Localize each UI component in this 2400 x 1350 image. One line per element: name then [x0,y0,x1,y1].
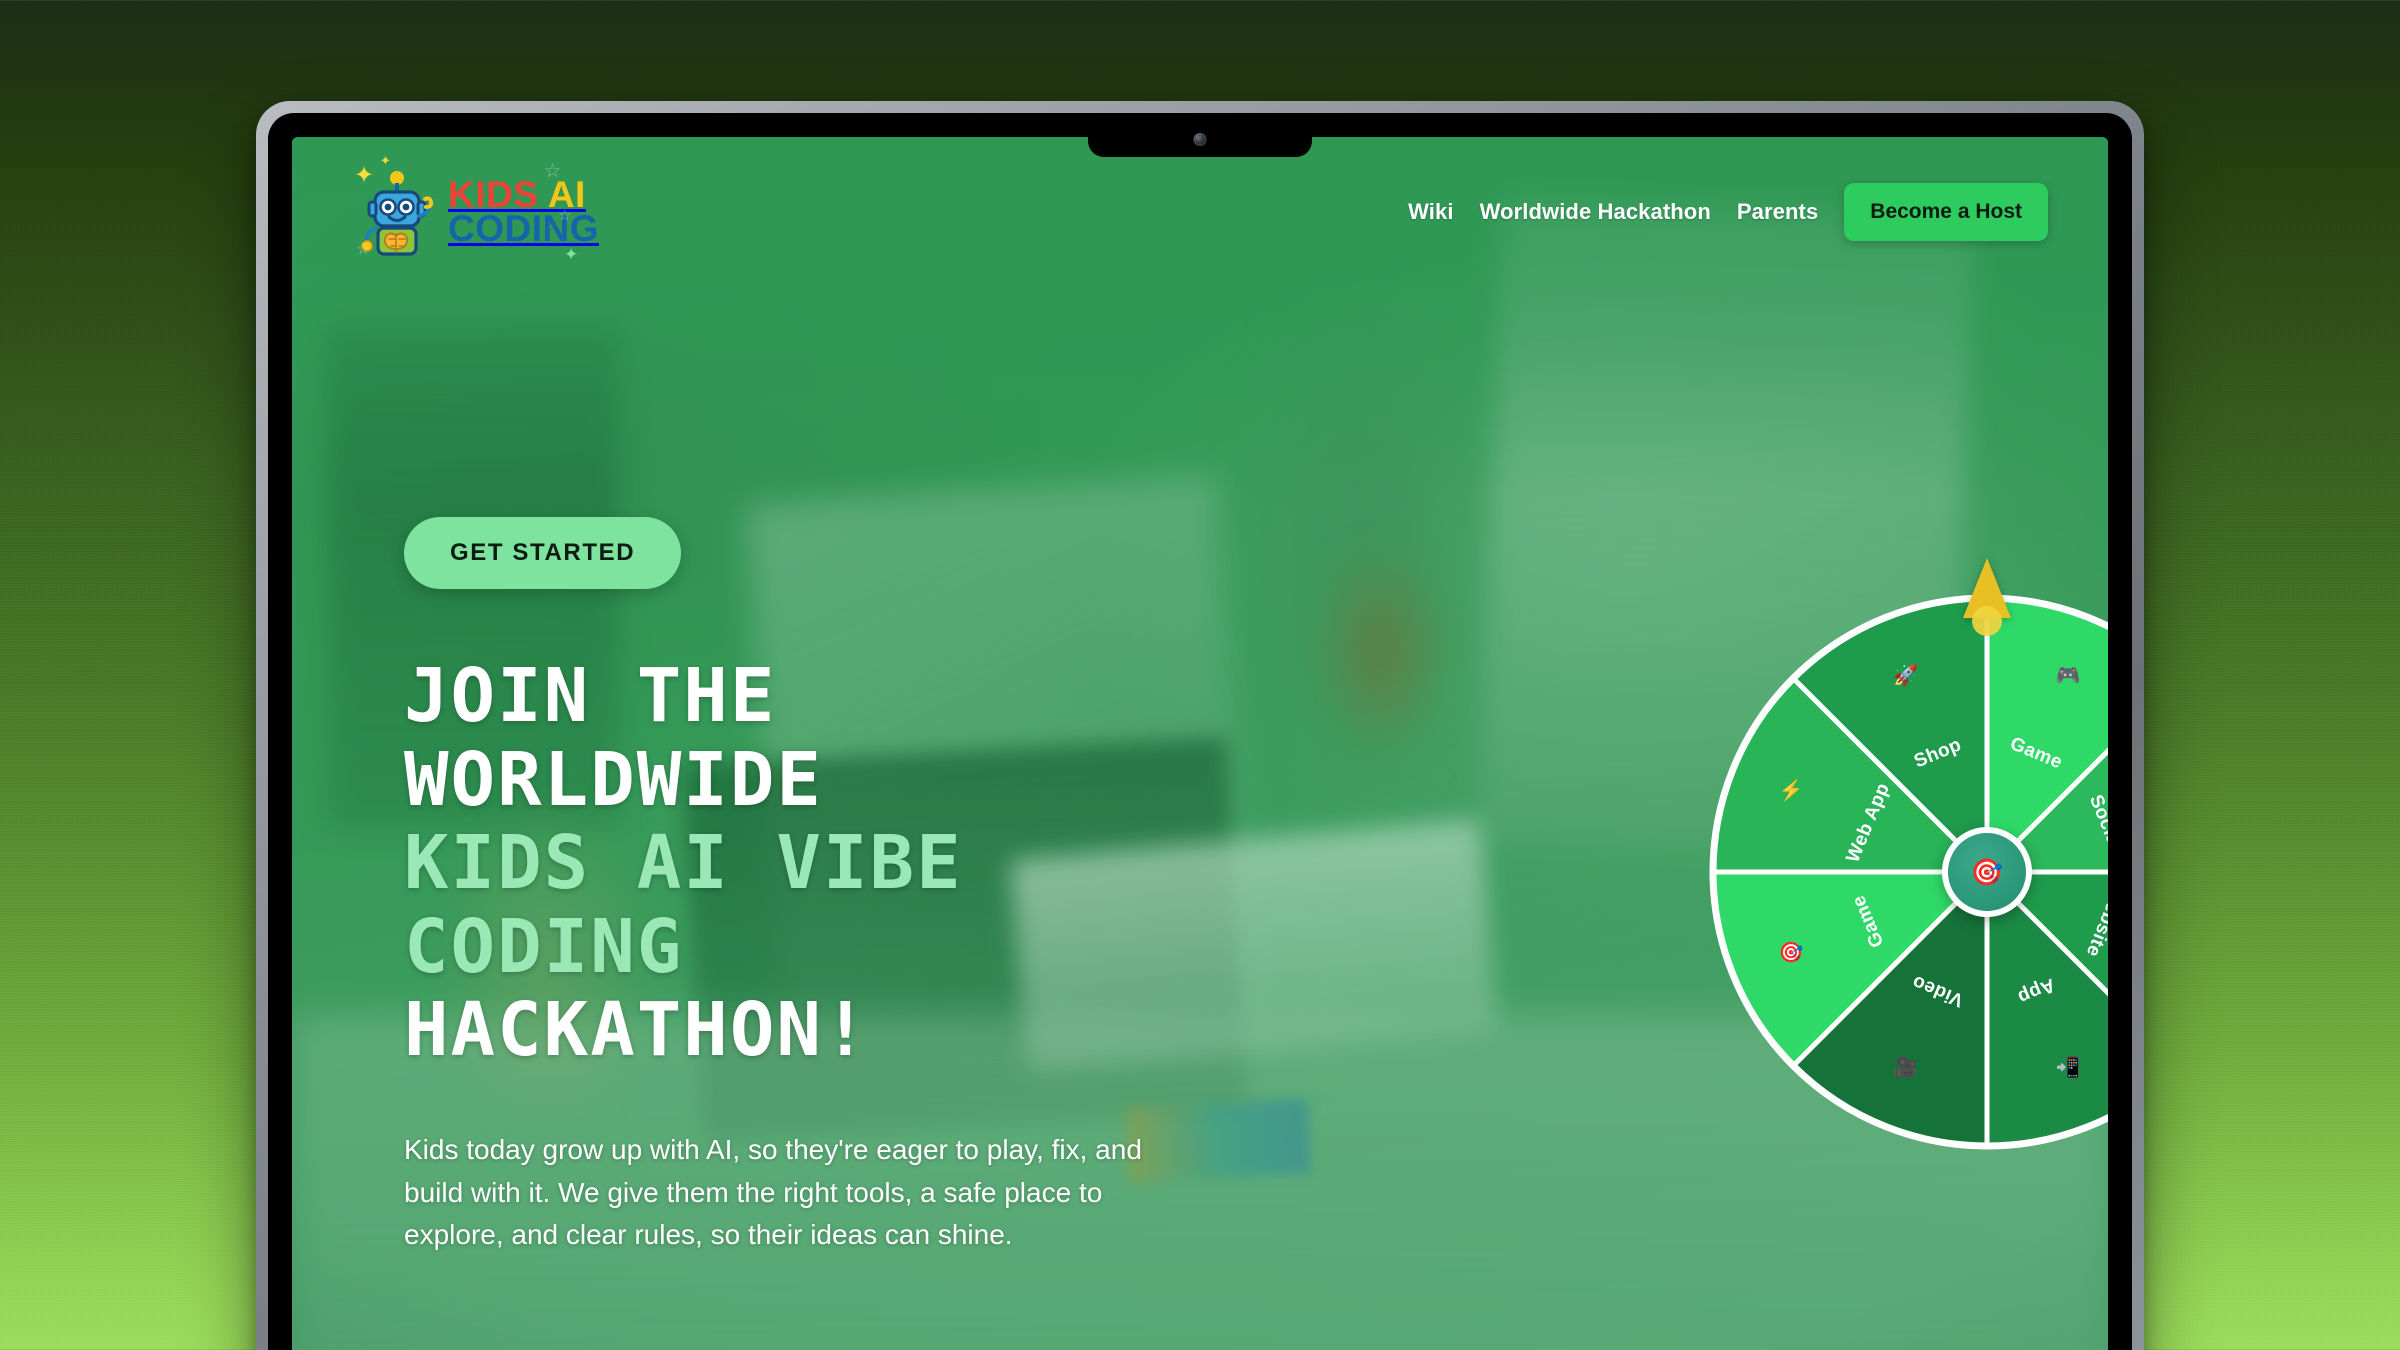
wordmark-coding: CODING [448,208,599,249]
headline-line-1: JOIN THE [404,655,1244,739]
browser-viewport: ✦ ✦ ☆ ☆ ☆ ✦ KIDS AI CODING [292,137,2108,1350]
wheel-hub[interactable]: 🎯 [1942,827,2032,917]
spin-wheel[interactable]: Game🎮Social📱Website🌐App📲Video🎥Game🎯Web A… [1707,592,2108,1152]
headline-line-2: WORLDWIDE [404,739,1244,823]
star-outline-icon: ☆ [558,208,571,223]
hero-content: GET STARTED JOIN THE WORLDWIDE KIDS AI V… [404,517,1244,1257]
brand-wordmark: KIDS AI CODING [448,178,599,246]
primary-nav: Wiki Worldwide Hackathon Parents Become … [1408,183,2048,241]
star-outline-icon: ☆ [356,242,370,258]
headline-line-3: KIDS AI VIBE [404,822,1244,906]
sparkle-small-icon: ✦ [380,154,391,167]
sparkle-icon: ✦ [354,164,374,188]
hero-paragraph: Kids today grow up with AI, so they're e… [404,1129,1204,1257]
get-started-button[interactable]: GET STARTED [404,517,681,589]
triangle-pointer-icon [1963,558,2011,636]
become-a-host-button[interactable]: Become a Host [1844,183,2048,241]
headline-line-4: CODING [404,906,1244,990]
wheel-segments[interactable] [1707,592,2108,1152]
laptop-bezel: ✦ ✦ ☆ ☆ ☆ ✦ KIDS AI CODING [268,113,2132,1350]
nav-link-worldwide-hackathon[interactable]: Worldwide Hackathon [1480,199,1711,225]
laptop-frame: ✦ ✦ ☆ ☆ ☆ ✦ KIDS AI CODING [256,101,2144,1350]
star-outline-icon: ☆ [544,162,561,181]
headline-line-5: HACKATHON! [404,989,1244,1073]
nav-link-parents[interactable]: Parents [1737,199,1818,225]
nav-link-wiki[interactable]: Wiki [1408,199,1453,225]
site-header: ✦ ✦ ☆ ☆ ☆ ✦ KIDS AI CODING [292,137,2108,287]
dart-target-icon: 🎯 [1971,857,2003,888]
sparkle-green-icon: ✦ [564,246,578,263]
page-title: JOIN THE WORLDWIDE KIDS AI VIBE CODING H… [404,655,1244,1073]
webcam-icon [1194,133,1207,146]
brand-logo-link[interactable]: ✦ ✦ ☆ ☆ ☆ ✦ KIDS AI CODING [358,166,599,258]
